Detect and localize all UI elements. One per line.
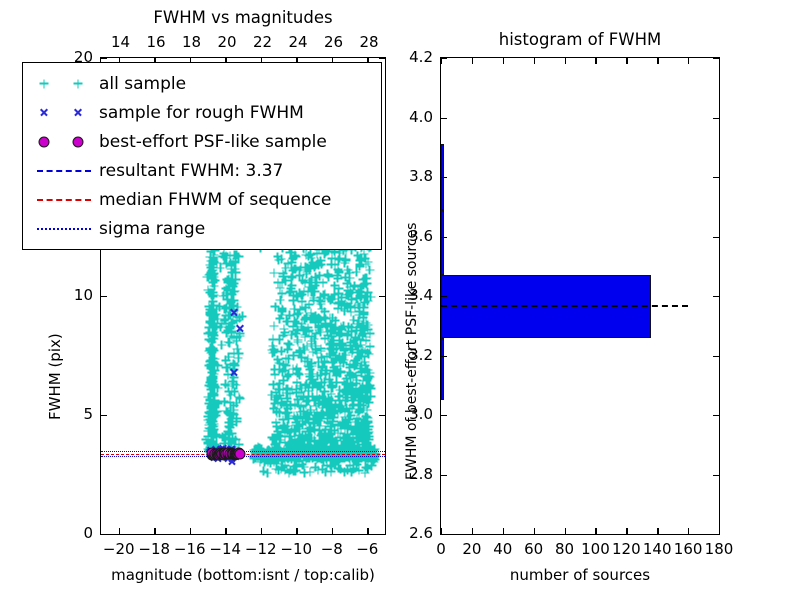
all-sample-point	[301, 333, 310, 342]
all-sample-point	[353, 340, 362, 349]
scatter-xtick	[332, 528, 333, 534]
scatter-ytick-label: 10	[51, 288, 93, 303]
rough-fwhm-point	[230, 308, 239, 317]
all-sample-point	[311, 342, 320, 351]
all-sample-point	[302, 398, 311, 407]
all-sample-point	[361, 412, 370, 421]
all-sample-point	[230, 250, 239, 259]
all-sample-point	[256, 458, 265, 467]
all-sample-point	[227, 268, 236, 277]
all-sample-point	[334, 299, 343, 308]
all-sample-point	[347, 295, 356, 304]
histogram-bar	[441, 338, 444, 400]
all-sample-point	[347, 328, 356, 337]
scatter-xtick	[154, 528, 155, 534]
cross-marker-icon	[74, 108, 83, 117]
all-sample-point	[304, 355, 313, 364]
scatter-ylabel: FWHM (pix)	[46, 333, 64, 420]
all-sample-point	[326, 314, 335, 323]
scatter-xtick	[225, 528, 226, 534]
all-sample-point	[356, 261, 365, 270]
all-sample-point	[310, 263, 319, 272]
histogram-ylabel: FWHM of best-effort PSF-like sources	[404, 223, 420, 480]
plus-marker-icon	[40, 79, 49, 88]
histogram-xtick-label: 40	[487, 542, 519, 557]
all-sample-point	[325, 420, 334, 429]
rough-fwhm-point	[235, 324, 244, 333]
all-sample-point	[320, 290, 329, 299]
scatter-xtick	[261, 528, 262, 534]
histogram-title: histogram of FWHM	[440, 30, 720, 49]
histogram-xtick	[534, 58, 535, 64]
all-sample-point	[336, 406, 345, 415]
all-sample-point	[278, 463, 287, 472]
all-sample-point	[227, 276, 236, 285]
all-sample-point	[335, 284, 344, 293]
histogram-ytick	[713, 296, 719, 297]
histogram-ytick	[713, 177, 719, 178]
scatter-top-tick-label: 28	[349, 35, 389, 50]
histogram-xtick-label: 140	[641, 542, 673, 557]
scatter-xtick	[367, 528, 368, 534]
all-sample-point	[349, 373, 358, 382]
all-sample-point	[207, 356, 216, 365]
scatter-ytick	[101, 296, 107, 297]
histogram-median-line	[441, 305, 688, 307]
legend-entry: resultant FWHM: 3.37	[31, 156, 371, 185]
histogram-ytick	[713, 356, 719, 357]
all-sample-point	[278, 272, 287, 281]
histogram-data-area	[441, 58, 719, 534]
all-sample-point	[297, 387, 306, 396]
all-sample-point	[295, 271, 304, 280]
all-sample-point	[359, 329, 368, 338]
all-sample-point	[346, 283, 355, 292]
all-sample-point	[221, 356, 230, 365]
all-sample-point	[348, 405, 357, 414]
histogram-ytick	[441, 177, 447, 178]
histogram-xtick-label: 20	[456, 542, 488, 557]
all-sample-point	[343, 304, 352, 313]
all-sample-point	[365, 398, 374, 407]
all-sample-point	[270, 322, 279, 331]
all-sample-point	[292, 365, 301, 374]
all-sample-point	[293, 420, 302, 429]
histogram-xtick-label: 60	[518, 542, 550, 557]
scatter-ytick	[379, 58, 385, 59]
all-sample-point	[270, 269, 279, 278]
all-sample-point	[210, 310, 219, 319]
legend-line-sample	[37, 228, 91, 230]
histogram-ytick-label: 3.8	[391, 169, 433, 184]
all-sample-point	[275, 335, 284, 344]
histogram-xtick	[626, 58, 627, 64]
all-sample-point	[353, 424, 362, 433]
histogram-ytick	[441, 237, 447, 238]
scatter-ytick	[379, 534, 385, 535]
all-sample-point	[287, 331, 296, 340]
all-sample-point	[332, 370, 341, 379]
scatter-xlabel: magnitude (bottom:isnt / top:calib)	[100, 566, 386, 584]
scatter-ytick	[379, 415, 385, 416]
histogram-ytick	[441, 475, 447, 476]
all-sample-point	[353, 251, 362, 260]
all-sample-point	[309, 284, 318, 293]
all-sample-point	[283, 345, 292, 354]
histogram-ytick-label: 2.6	[391, 526, 433, 541]
histogram-xtick	[688, 528, 689, 534]
cross-marker-icon	[40, 108, 49, 117]
histogram-ytick	[713, 58, 719, 59]
all-sample-point	[361, 372, 370, 381]
all-sample-point	[310, 427, 319, 436]
all-sample-point	[356, 401, 365, 410]
histogram-xtick	[503, 528, 504, 534]
all-sample-point	[283, 259, 292, 268]
all-sample-point	[220, 249, 229, 258]
dot-marker-icon	[39, 136, 50, 147]
all-sample-point	[309, 415, 318, 424]
legend-entry-label: resultant FWHM: 3.37	[97, 161, 283, 181]
legend-line-sample	[37, 170, 91, 172]
all-sample-point	[338, 339, 347, 348]
legend-key-cross	[31, 103, 97, 123]
histogram-xtick-label: 120	[610, 542, 642, 557]
histogram-xtick	[719, 58, 720, 64]
histogram-bar	[441, 210, 444, 275]
histogram-ytick	[713, 237, 719, 238]
histogram-xtick	[472, 528, 473, 534]
histogram-xtick-label: 0	[425, 542, 457, 557]
all-sample-point	[206, 424, 215, 433]
all-sample-point	[294, 292, 303, 301]
all-sample-point	[271, 302, 280, 311]
histogram-xtick	[657, 528, 658, 534]
all-sample-point	[287, 281, 296, 290]
scatter-title: FWHM vs magnitudes	[100, 8, 386, 27]
histogram-xtick	[626, 528, 627, 534]
histogram-xtick-label: 80	[549, 542, 581, 557]
histogram-xtick	[657, 58, 658, 64]
all-sample-point	[321, 468, 330, 477]
legend-entry: median FHWM of sequence	[31, 185, 371, 214]
histogram-xtick	[595, 58, 596, 64]
all-sample-point	[364, 288, 373, 297]
all-sample-point	[361, 435, 370, 444]
all-sample-point	[229, 380, 238, 389]
all-sample-point	[319, 278, 328, 287]
all-sample-point	[365, 342, 374, 351]
legend-entry: all sample	[31, 69, 371, 98]
scatter-top-tick-label: 24	[278, 35, 318, 50]
histogram-ytick	[713, 475, 719, 476]
all-sample-point	[206, 256, 215, 265]
all-sample-point	[290, 305, 299, 314]
plus-marker-icon	[74, 79, 83, 88]
legend-line-sample	[37, 199, 91, 201]
histogram-xtick-label: 100	[579, 542, 611, 557]
scatter-ytick-label: 0	[51, 526, 93, 541]
legend-key-dot	[31, 132, 97, 152]
all-sample-point	[233, 345, 242, 354]
all-sample-point	[208, 338, 217, 347]
histogram-xtick	[688, 58, 689, 64]
scatter-ytick	[101, 415, 107, 416]
all-sample-point	[313, 383, 322, 392]
scatter-top-tick-label: 20	[207, 35, 247, 50]
all-sample-point	[340, 467, 349, 476]
scatter-top-tick-label: 18	[172, 35, 212, 50]
histogram-xtick-label: 160	[672, 542, 704, 557]
all-sample-point	[301, 314, 310, 323]
all-sample-point	[358, 391, 367, 400]
all-sample-point	[303, 342, 312, 351]
all-sample-point	[275, 391, 284, 400]
all-sample-point	[318, 362, 327, 371]
all-sample-point	[223, 286, 232, 295]
all-sample-point	[224, 422, 233, 431]
all-sample-point	[329, 348, 338, 357]
scatter-ytick	[101, 58, 107, 59]
all-sample-point	[343, 385, 352, 394]
scatter-xtick-label: −6	[343, 542, 391, 557]
scatter-ytick	[379, 296, 385, 297]
histogram-ytick	[713, 118, 719, 119]
all-sample-point	[327, 401, 336, 410]
histogram-ytick	[441, 415, 447, 416]
scatter-xtick	[190, 528, 191, 534]
dot-marker-icon	[73, 136, 84, 147]
legend: all samplesample for rough FWHMbest-effo…	[22, 62, 382, 250]
legend-key-dashed-line	[31, 190, 97, 210]
legend-key-dashed-line	[31, 161, 97, 181]
all-sample-point	[290, 400, 299, 409]
histogram-ytick	[441, 58, 447, 59]
all-sample-point	[306, 365, 315, 374]
histogram-xtick	[565, 58, 566, 64]
scatter-xtick	[119, 528, 120, 534]
all-sample-point	[276, 432, 285, 441]
scatter-xtick	[296, 528, 297, 534]
histogram-xtick	[565, 528, 566, 534]
histogram-xlabel: number of sources	[440, 566, 720, 584]
histogram-ytick	[441, 534, 447, 535]
histogram-ytick-label: 4.0	[391, 110, 433, 125]
all-sample-point	[274, 256, 283, 265]
scatter-top-tick-label: 22	[243, 35, 283, 50]
legend-entry-label: median FHWM of sequence	[97, 190, 331, 210]
legend-entry-label: sigma range	[97, 219, 205, 239]
all-sample-point	[208, 399, 217, 408]
all-sample-point	[282, 361, 291, 370]
histogram-ytick	[441, 296, 447, 297]
all-sample-point	[311, 318, 320, 327]
all-sample-point	[263, 468, 272, 477]
histogram-xtick	[595, 528, 596, 534]
legend-key-dashdot-line	[31, 219, 97, 239]
all-sample-point	[208, 297, 217, 306]
legend-entry-label: best-effort PSF-like sample	[97, 132, 327, 152]
all-sample-point	[342, 256, 351, 265]
legend-key-plus	[31, 74, 97, 94]
all-sample-point	[203, 416, 212, 425]
legend-entry: sample for rough FWHM	[31, 98, 371, 127]
histogram-ytick-label: 4.2	[391, 50, 433, 65]
all-sample-point	[335, 386, 344, 395]
histogram-ytick	[441, 356, 447, 357]
all-sample-point	[226, 390, 235, 399]
scatter-top-tick-label: 14	[101, 35, 141, 50]
histogram-xtick-label: 180	[703, 542, 735, 557]
histogram-ytick	[713, 534, 719, 535]
all-sample-point	[208, 278, 217, 287]
scatter-ytick	[101, 534, 107, 535]
histogram-xtick	[503, 58, 504, 64]
histogram-ytick	[713, 415, 719, 416]
all-sample-point	[272, 422, 281, 431]
legend-entry-label: all sample	[97, 74, 186, 94]
scatter-top-tick-label: 16	[136, 35, 176, 50]
all-sample-point	[270, 345, 279, 354]
histogram-xtick	[719, 528, 720, 534]
histogram-ytick	[441, 118, 447, 119]
rough-fwhm-point	[229, 368, 238, 377]
histogram-xtick	[534, 528, 535, 534]
legend-entry-label: sample for rough FWHM	[97, 103, 304, 123]
legend-entry: best-effort PSF-like sample	[31, 127, 371, 156]
psf-sample-point	[235, 449, 246, 460]
all-sample-point	[357, 362, 366, 371]
all-sample-point	[298, 460, 307, 469]
all-sample-point	[210, 367, 219, 376]
all-sample-point	[220, 433, 229, 442]
all-sample-point	[367, 461, 376, 470]
all-sample-point	[306, 468, 315, 477]
all-sample-point	[344, 415, 353, 424]
matplotlib-figure: FWHM vs magnitudes 1416182022242628 −20−…	[0, 0, 800, 600]
all-sample-point	[365, 266, 374, 275]
histogram-xtick	[472, 58, 473, 64]
all-sample-point	[270, 365, 279, 374]
all-sample-point	[275, 408, 284, 417]
legend-entry: sigma range	[31, 214, 371, 243]
scatter-top-tick-label: 26	[314, 35, 354, 50]
all-sample-point	[209, 382, 218, 391]
all-sample-point	[354, 316, 363, 325]
